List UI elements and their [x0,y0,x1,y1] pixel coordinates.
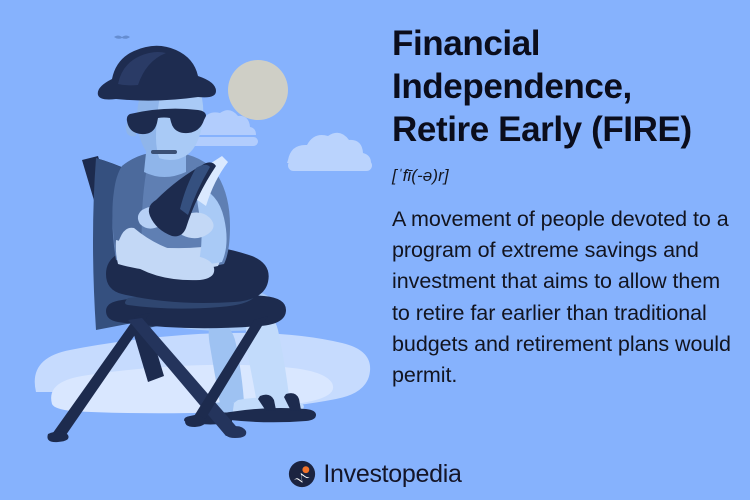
pronunciation-text: [ˈfī(-ə)r] [392,166,742,186]
chair-foot-right [225,426,246,438]
chair-foot-mid [185,416,205,427]
illustration-person-reading-in-beach-chair [0,0,380,460]
investopedia-circle-logo-icon [288,460,316,488]
sun-icon [228,60,288,120]
cloud-right-icon [287,133,372,171]
investopedia-definition-card: Financial Independence, Retire Early (FI… [0,0,750,500]
page-title: Financial Independence, Retire Early (FI… [392,22,742,152]
definition-text-panel: Financial Independence, Retire Early (FI… [392,22,742,391]
person-mouth [151,150,177,154]
chair-foot-left [47,431,68,442]
investopedia-logo: Investopedia [0,460,750,488]
bird-icon [114,36,130,39]
sun-hat-icon [98,46,216,101]
investopedia-wordmark: Investopedia [323,462,461,487]
definition-text: A movement of people devoted to a progra… [392,204,742,392]
